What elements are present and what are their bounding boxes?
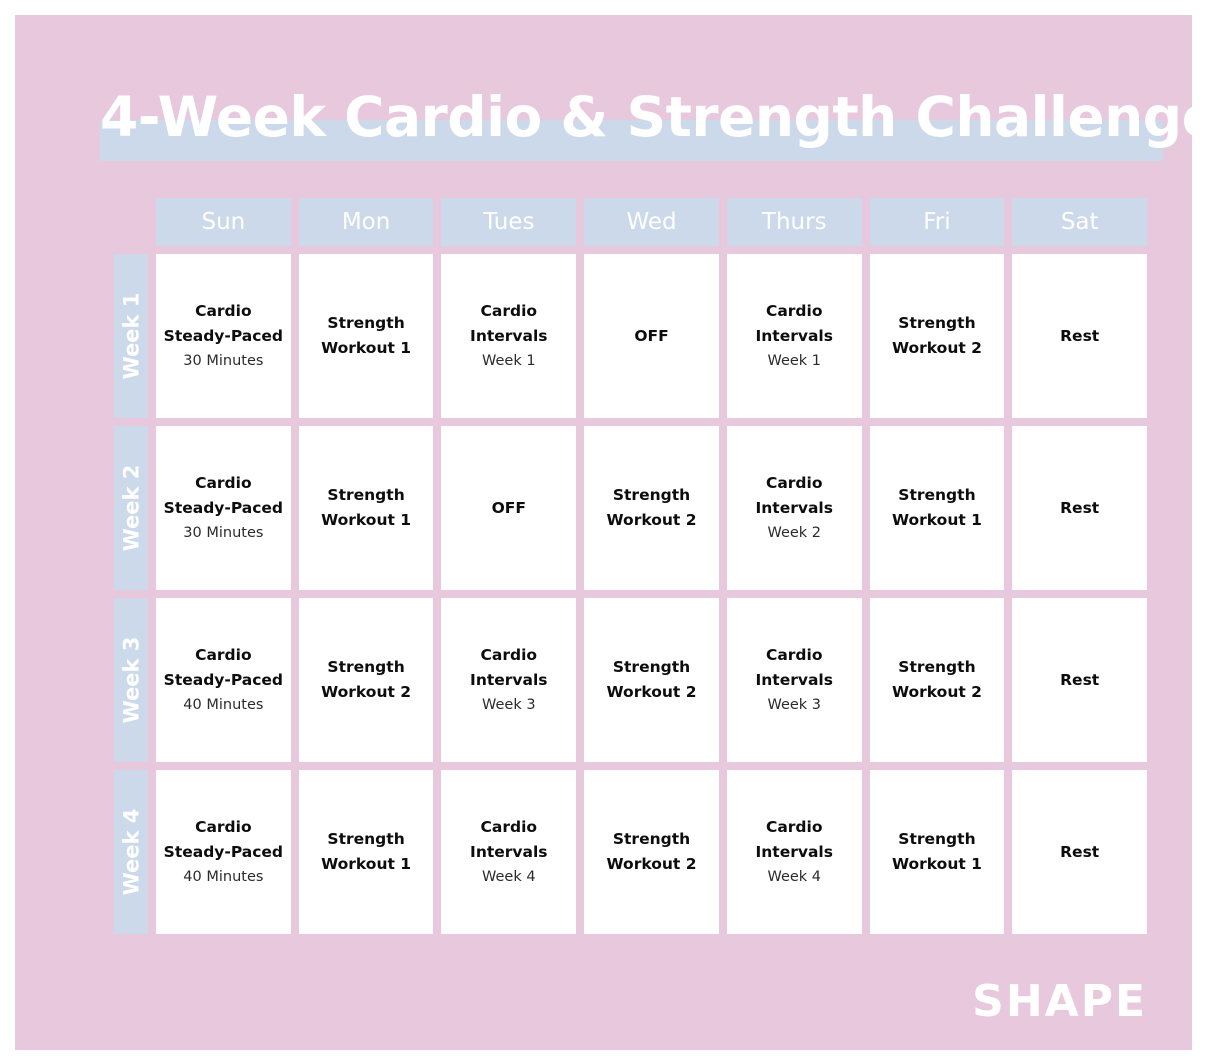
day-header-wed: Wed (584, 198, 719, 246)
day-cell-title: Strength Workout 1 (305, 483, 428, 533)
day-cell-title: Cardio Steady-Paced (162, 643, 285, 693)
week-label-text: Week 1 (119, 293, 143, 380)
day-cell[interactable]: Strength Workout 2 (870, 254, 1005, 418)
calendar-grid: Sun Mon Tues Wed Thurs Fri Sat Week 1 Ca… (114, 198, 1147, 934)
day-cell-title: Cardio Steady-Paced (162, 299, 285, 349)
day-cell[interactable]: Cardio Intervals Week 4 (727, 770, 862, 934)
day-cell-title: Strength Workout 1 (876, 483, 999, 533)
page-title: 4-Week Cardio & Strength Challenge (100, 74, 1163, 160)
day-cell[interactable]: Cardio Intervals Week 3 (441, 598, 576, 762)
day-cell[interactable]: Strength Workout 2 (584, 426, 719, 590)
week-label-text: Week 4 (119, 809, 143, 896)
week-row: Week 1 Cardio Steady-Paced 30 Minutes St… (114, 254, 1147, 418)
day-cell[interactable]: Rest (1012, 770, 1147, 934)
day-cell[interactable]: Strength Workout 2 (299, 598, 434, 762)
day-cell-title: Strength Workout 2 (590, 483, 713, 533)
day-header-mon: Mon (299, 198, 434, 246)
day-cell-title: Cardio Intervals (447, 815, 570, 865)
day-cell-title: Rest (1060, 496, 1099, 521)
day-cell-detail: Week 3 (767, 693, 821, 717)
week-row: Week 2 Cardio Steady-Paced 30 Minutes St… (114, 426, 1147, 590)
day-cell-title: Strength Workout 2 (876, 311, 999, 361)
day-cell-title: Strength Workout 2 (590, 827, 713, 877)
day-cell-title: Strength Workout 1 (876, 827, 999, 877)
day-cell[interactable]: Cardio Steady-Paced 30 Minutes (156, 426, 291, 590)
day-cell[interactable]: Cardio Intervals Week 3 (727, 598, 862, 762)
day-header-sun: Sun (156, 198, 291, 246)
day-cell[interactable]: Strength Workout 1 (299, 770, 434, 934)
day-header-thurs: Thurs (727, 198, 862, 246)
week-label-text: Week 2 (119, 465, 143, 552)
day-cell[interactable]: Strength Workout 2 (584, 770, 719, 934)
day-cell[interactable]: Cardio Intervals Week 1 (727, 254, 862, 418)
day-cell[interactable]: Rest (1012, 254, 1147, 418)
day-cell[interactable]: OFF (441, 426, 576, 590)
day-cell-title: OFF (492, 496, 526, 521)
week-label-week-3: Week 3 (114, 598, 148, 762)
day-cell-detail: Week 3 (482, 693, 536, 717)
day-cell-detail: Week 2 (767, 521, 821, 545)
day-cell-title: OFF (634, 324, 668, 349)
day-cell-title: Rest (1060, 324, 1099, 349)
day-cell-detail: 30 Minutes (183, 349, 263, 373)
day-cell[interactable]: Strength Workout 2 (584, 598, 719, 762)
day-cell[interactable]: Strength Workout 1 (870, 426, 1005, 590)
day-cell-detail: 40 Minutes (183, 865, 263, 889)
week-row: Week 4 Cardio Steady-Paced 40 Minutes St… (114, 770, 1147, 934)
day-cell-title: Strength Workout 2 (305, 655, 428, 705)
day-cell-title: Cardio Intervals (733, 471, 856, 521)
week-label-cell: Week 4 (114, 770, 148, 934)
week-label-cell: Week 2 (114, 426, 148, 590)
day-header-fri: Fri (870, 198, 1005, 246)
day-cell[interactable]: Cardio Intervals Week 4 (441, 770, 576, 934)
day-cell-title: Rest (1060, 840, 1099, 865)
day-cell[interactable]: OFF (584, 254, 719, 418)
week-label-cell: Week 3 (114, 598, 148, 762)
day-cell-title: Rest (1060, 668, 1099, 693)
day-cell-detail: Week 4 (767, 865, 821, 889)
workout-calendar-poster: 4-Week Cardio & Strength Challenge Sun M… (15, 15, 1192, 1050)
day-cell-title: Strength Workout 1 (305, 827, 428, 877)
day-cell-title: Strength Workout 2 (876, 655, 999, 705)
day-cell-title: Cardio Steady-Paced (162, 815, 285, 865)
day-cell-detail: 40 Minutes (183, 693, 263, 717)
calendar-header-row: Sun Mon Tues Wed Thurs Fri Sat (114, 198, 1147, 246)
day-cell-title: Cardio Intervals (447, 299, 570, 349)
day-cell-title: Strength Workout 2 (590, 655, 713, 705)
day-header-sat: Sat (1012, 198, 1147, 246)
day-cell-title: Cardio Steady-Paced (162, 471, 285, 521)
day-cell-detail: Week 1 (767, 349, 821, 373)
day-cell[interactable]: Strength Workout 1 (299, 254, 434, 418)
week-label-week-2: Week 2 (114, 426, 148, 590)
day-cell[interactable]: Cardio Intervals Week 1 (441, 254, 576, 418)
day-cell-title: Cardio Intervals (733, 815, 856, 865)
week-label-spacer (114, 198, 148, 246)
week-row: Week 3 Cardio Steady-Paced 40 Minutes St… (114, 598, 1147, 762)
day-cell-title: Cardio Intervals (447, 643, 570, 693)
day-cell[interactable]: Rest (1012, 426, 1147, 590)
day-cell-detail: Week 4 (482, 865, 536, 889)
week-label-week-4: Week 4 (114, 770, 148, 934)
day-cell[interactable]: Cardio Intervals Week 2 (727, 426, 862, 590)
week-label-cell: Week 1 (114, 254, 148, 418)
day-cell[interactable]: Cardio Steady-Paced 40 Minutes (156, 598, 291, 762)
day-cell-detail: Week 1 (482, 349, 536, 373)
week-label-text: Week 3 (119, 637, 143, 724)
day-cell[interactable]: Strength Workout 2 (870, 598, 1005, 762)
day-cell[interactable]: Cardio Steady-Paced 40 Minutes (156, 770, 291, 934)
title-banner: 4-Week Cardio & Strength Challenge (100, 120, 1163, 161)
brand-logo: SHAPE (972, 980, 1147, 1024)
day-cell[interactable]: Rest (1012, 598, 1147, 762)
day-cell-title: Strength Workout 1 (305, 311, 428, 361)
day-cell-title: Cardio Intervals (733, 643, 856, 693)
day-header-tues: Tues (441, 198, 576, 246)
week-label-week-1: Week 1 (114, 254, 148, 418)
day-cell[interactable]: Cardio Steady-Paced 30 Minutes (156, 254, 291, 418)
day-cell[interactable]: Strength Workout 1 (299, 426, 434, 590)
day-cell-title: Cardio Intervals (733, 299, 856, 349)
day-cell[interactable]: Strength Workout 1 (870, 770, 1005, 934)
day-cell-detail: 30 Minutes (183, 521, 263, 545)
